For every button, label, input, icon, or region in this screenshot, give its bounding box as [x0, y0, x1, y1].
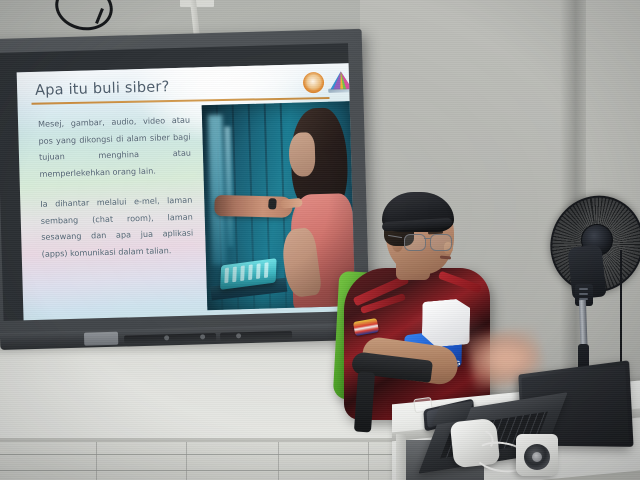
glasses-lens-right — [430, 234, 452, 251]
slide-paragraph-1: Mesej, gambar, audio, video atau pos yan… — [38, 112, 192, 182]
desk-leg — [396, 434, 406, 480]
slide-body-text: Mesej, gambar, audio, video atau pos yan… — [38, 112, 194, 276]
interactive-smartboard[interactable]: Apa itu buli siber? Mesej, gambar, audio… — [0, 29, 370, 351]
classroom-photo-scene: Apa itu buli siber? Mesej, gambar, audio… — [0, 0, 640, 480]
slide-paragraph-2: Ia dihantar melalui e-mel, laman sembang… — [40, 192, 194, 262]
presentation-slide: Apa itu buli siber? Mesej, gambar, audio… — [17, 63, 356, 321]
presenter-hand-highlight — [480, 342, 538, 376]
smartboard-display[interactable]: Apa itu buli siber? Mesej, gambar, audio… — [0, 43, 355, 321]
ceiling-conduit-box — [180, 0, 214, 7]
orange-seal-logo — [303, 72, 325, 94]
glasses-bridge — [424, 238, 431, 239]
slide-title: Apa itu buli siber? — [35, 79, 170, 99]
tray-clip — [84, 332, 118, 346]
glasses-lens-left — [404, 234, 426, 251]
jersey-br-logo — [422, 298, 471, 348]
tiled-floor — [0, 442, 430, 480]
speaker-cone — [524, 444, 550, 470]
